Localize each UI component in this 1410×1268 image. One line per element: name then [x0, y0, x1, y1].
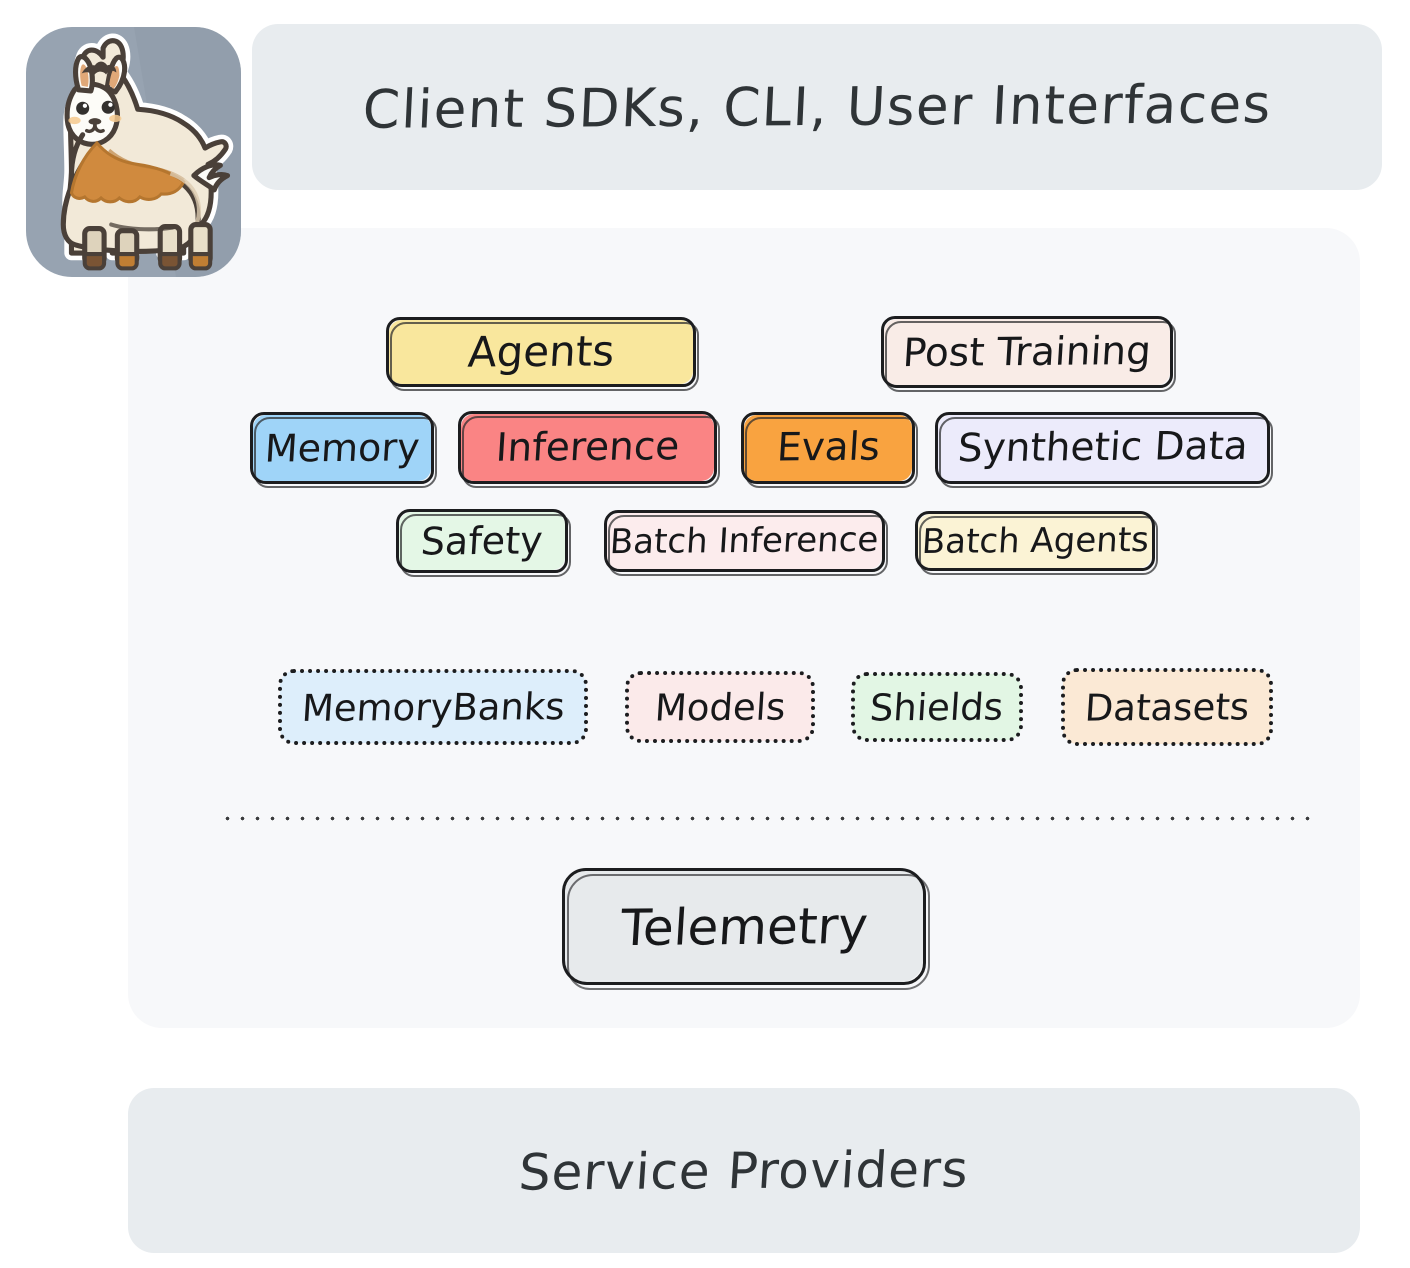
api-box-label: Post Training	[902, 331, 1152, 372]
telemetry-box[interactable]: Telemetry	[562, 868, 926, 985]
api-box-label: Evals	[775, 428, 880, 468]
header-band: Client SDKs, CLI, User Interfaces	[252, 24, 1382, 190]
api-box-synthetic-data[interactable]: Synthetic Data	[935, 412, 1270, 484]
api-box-safety[interactable]: Safety	[396, 509, 568, 573]
api-box-label: Safety	[420, 521, 544, 560]
api-box-evals[interactable]: Evals	[741, 412, 915, 484]
api-box-label: Inference	[495, 427, 681, 468]
api-box-label: Batch Inference	[609, 523, 880, 559]
resource-row: MemoryBanksModelsShieldsDatasets	[128, 668, 1360, 746]
resource-box-label: Models	[654, 688, 787, 726]
llama-logo	[26, 27, 241, 277]
resource-box-label: Datasets	[1084, 688, 1251, 726]
api-box-label: Synthetic Data	[956, 427, 1248, 469]
api-box-batch-agents[interactable]: Batch Agents	[915, 511, 1155, 571]
api-box-post-training[interactable]: Post Training	[881, 316, 1173, 388]
api-box-memory[interactable]: Memory	[250, 412, 434, 484]
telemetry-row: Telemetry	[128, 868, 1360, 985]
api-row-1: AgentsPost Training	[128, 316, 1360, 388]
api-box-label: Agents	[467, 330, 616, 373]
resource-box-label: Shields	[869, 688, 1004, 726]
resource-box-label: MemoryBanks	[300, 688, 565, 727]
header-title: Client SDKs, CLI, User Interfaces	[361, 74, 1273, 141]
resource-box-memorybanks[interactable]: MemoryBanks	[278, 669, 588, 745]
resource-box-datasets[interactable]: Datasets	[1061, 668, 1273, 746]
resource-box-shields[interactable]: Shields	[851, 672, 1023, 742]
api-box-label: Memory	[264, 428, 421, 467]
api-row-3: SafetyBatch InferenceBatch Agents	[128, 509, 1360, 573]
footer-title: Service Providers	[517, 1140, 970, 1201]
api-box-label: Batch Agents	[920, 523, 1149, 559]
diagram-canvas: Client SDKs, CLI, User Interfaces	[0, 0, 1410, 1268]
telemetry-label: Telemetry	[619, 900, 869, 952]
api-surface-panel: AgentsPost Training MemoryInferenceEvals…	[128, 228, 1360, 1028]
section-separator	[220, 816, 1312, 821]
api-box-batch-inference[interactable]: Batch Inference	[604, 510, 885, 572]
footer-band: Service Providers	[128, 1088, 1360, 1253]
api-box-inference[interactable]: Inference	[458, 411, 717, 484]
resource-box-models[interactable]: Models	[625, 671, 815, 743]
api-row-2: MemoryInferenceEvalsSynthetic Data	[128, 411, 1360, 484]
llama-icon	[26, 27, 241, 277]
api-box-agents[interactable]: Agents	[386, 317, 696, 387]
